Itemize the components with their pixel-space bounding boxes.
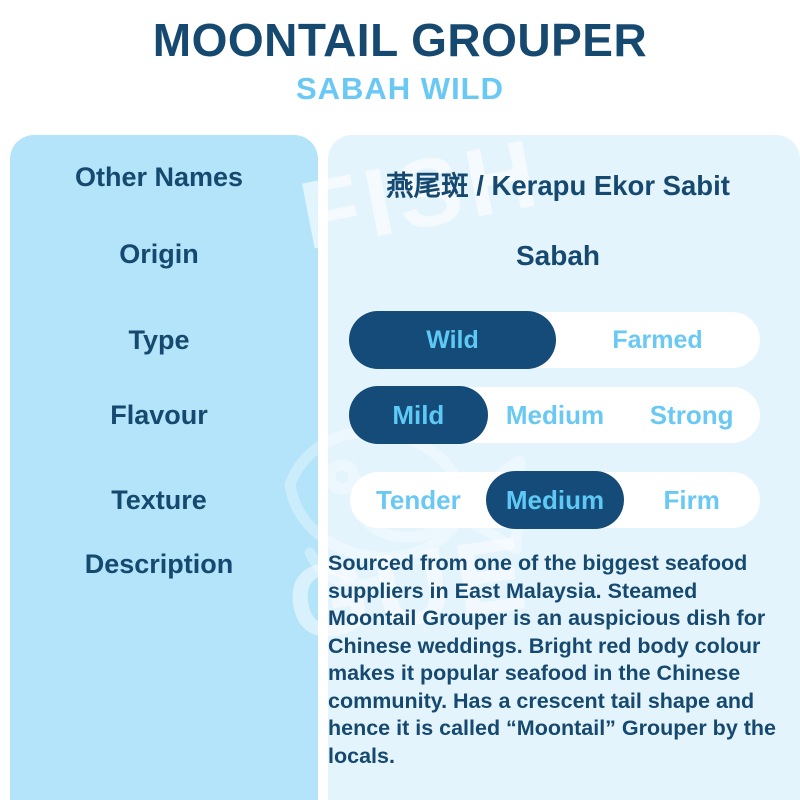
other-names-value: 燕尾斑 / Kerapu Ekor Sabit <box>328 163 800 203</box>
texture-option-tender[interactable]: Tender <box>350 472 487 528</box>
row-label-origin: Origin <box>0 240 318 270</box>
texture-option-medium[interactable]: Medium <box>487 472 624 528</box>
row-label-other-names: Other Names <box>0 163 318 193</box>
flavour-option-mild[interactable]: Mild <box>350 387 487 443</box>
spec-board: FISH GUE Other Names 燕尾斑 / Kerapu Ekor S… <box>0 135 800 800</box>
description-text: Sourced from one of the biggest seafood … <box>328 550 800 770</box>
row-value-origin: Sabah <box>318 240 800 272</box>
flavour-segmented-control[interactable]: Mild Medium Strong <box>350 387 760 443</box>
page-title: MOONTAIL GROUPER <box>0 0 800 66</box>
flavour-option-strong[interactable]: Strong <box>623 387 760 443</box>
row-value-other-names: 燕尾斑 / Kerapu Ekor Sabit <box>318 163 800 203</box>
row-other-names: Other Names 燕尾斑 / Kerapu Ekor Sabit <box>0 163 800 203</box>
type-option-wild[interactable]: Wild <box>350 312 555 368</box>
header: MOONTAIL GROUPER SABAH WILD <box>0 0 800 135</box>
row-label-description: Description <box>0 550 318 580</box>
row-label-type: Type <box>0 312 318 356</box>
flavour-option-medium[interactable]: Medium <box>487 387 624 443</box>
row-value-texture: Tender Medium Firm <box>318 472 800 528</box>
row-description: Description Sourced from one of the bigg… <box>0 550 800 770</box>
row-type: Type Wild Farmed <box>0 312 800 368</box>
row-flavour: Flavour Mild Medium Strong <box>0 387 800 443</box>
texture-option-firm[interactable]: Firm <box>623 472 760 528</box>
row-value-type: Wild Farmed <box>318 312 800 368</box>
row-value-description: Sourced from one of the biggest seafood … <box>318 550 800 770</box>
spec-rows: Other Names 燕尾斑 / Kerapu Ekor Sabit Orig… <box>0 135 800 800</box>
type-option-farmed[interactable]: Farmed <box>555 312 760 368</box>
row-value-flavour: Mild Medium Strong <box>318 387 800 443</box>
row-label-flavour: Flavour <box>0 387 318 431</box>
type-segmented-control[interactable]: Wild Farmed <box>350 312 760 368</box>
row-origin: Origin Sabah <box>0 240 800 272</box>
page-subtitle: SABAH WILD <box>0 66 800 106</box>
row-label-texture: Texture <box>0 472 318 516</box>
row-texture: Texture Tender Medium Firm <box>0 472 800 528</box>
origin-value: Sabah <box>328 240 800 272</box>
texture-segmented-control[interactable]: Tender Medium Firm <box>350 472 760 528</box>
